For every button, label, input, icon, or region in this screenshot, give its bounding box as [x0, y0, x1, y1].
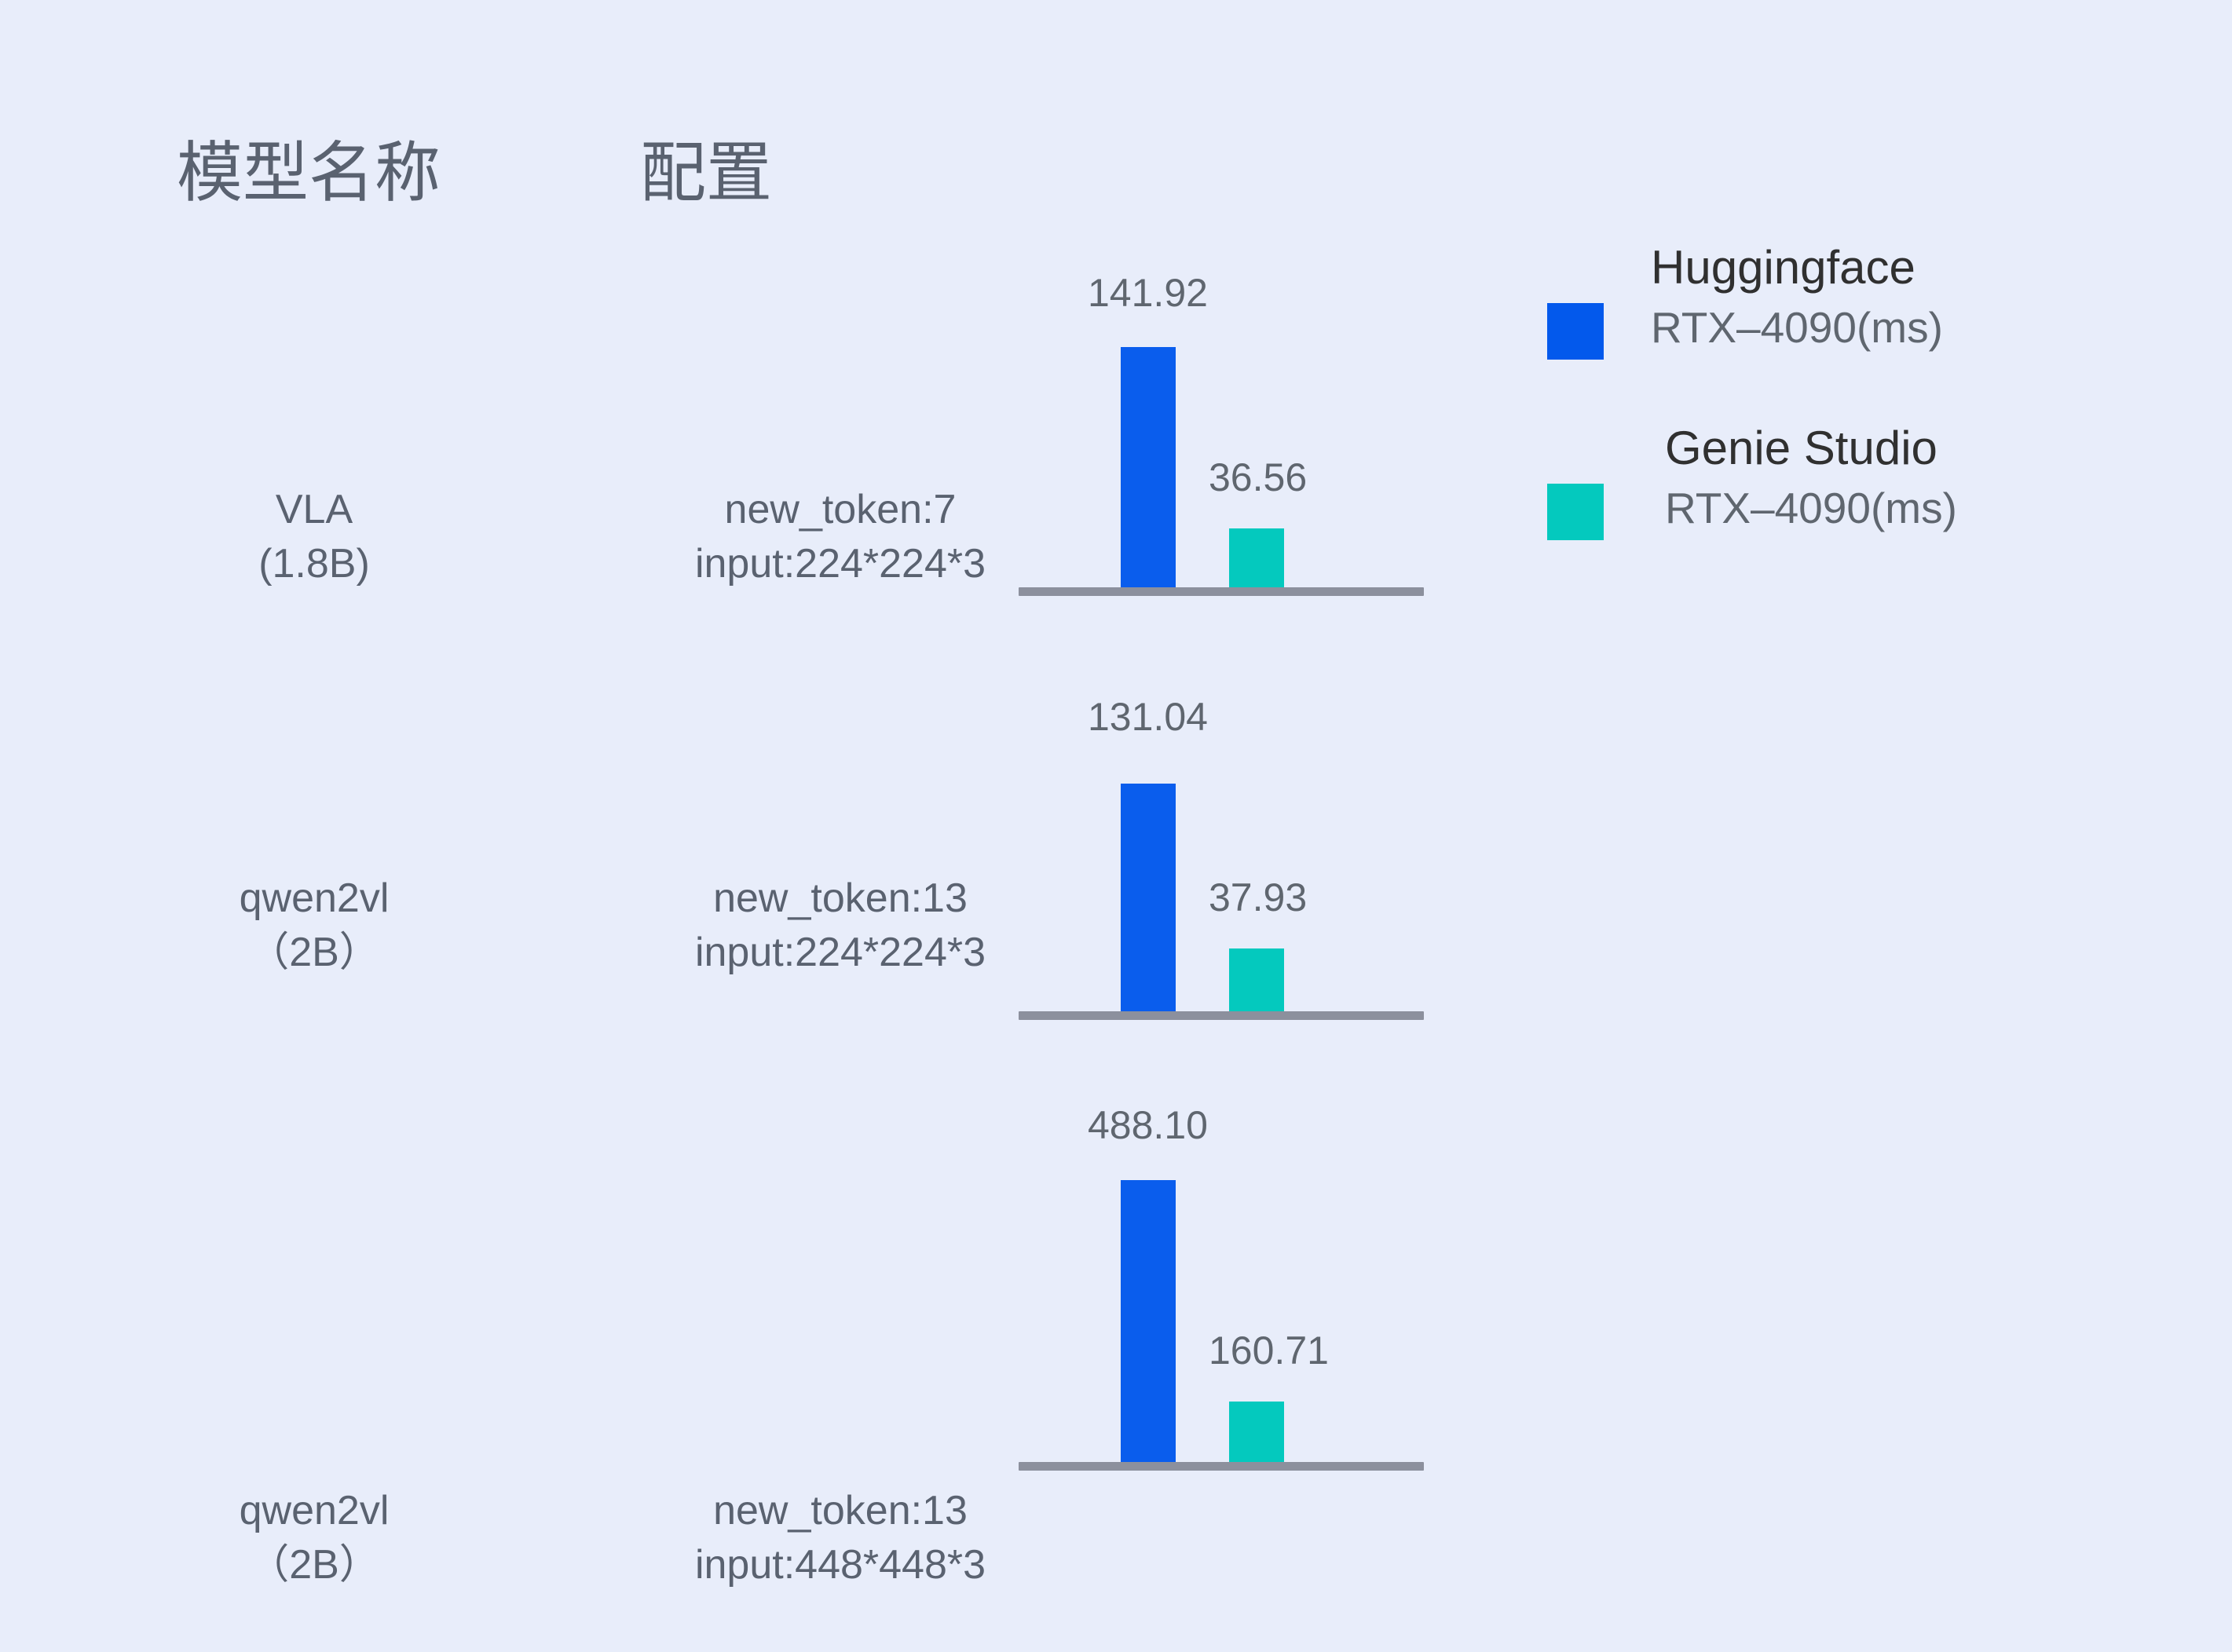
bar-genie-studio	[1229, 948, 1284, 1011]
model-name-line2: (1.8B)	[126, 537, 503, 591]
legend-item-genie-studio: Genie Studio RTX–4090(ms)	[1547, 424, 2097, 605]
infographic-root: 模型名称 配置 VLA (1.8B) new_token:7 input:224…	[0, 0, 2232, 1652]
legend-item-huggingface: Huggingface RTX–4090(ms)	[1547, 243, 2097, 424]
bar-chart-row: 488.10 160.71	[1019, 1091, 1427, 1484]
bar-huggingface	[1121, 784, 1176, 1011]
legend-text-genie-studio: Genie Studio RTX–4090(ms)	[1665, 424, 2105, 532]
legend-swatch-teal-icon	[1547, 484, 1604, 540]
bar-chart-row: 131.04 37.93	[1019, 660, 1427, 1029]
model-name-cell: VLA (1.8B)	[126, 483, 503, 590]
legend-title: Genie Studio	[1665, 424, 2105, 472]
table-row: qwen2vl （2B） new_token:13 input:448*448*…	[0, 1091, 2232, 1500]
model-name-line2: （2B）	[126, 1538, 503, 1592]
config-line2: input:448*448*3	[503, 1538, 1178, 1592]
legend-text-huggingface: Huggingface RTX–4090(ms)	[1651, 243, 2091, 351]
model-name-line2: （2B）	[126, 926, 503, 980]
model-name-line1: VLA	[126, 483, 503, 537]
bar-value-genie-studio: 160.71	[1209, 1331, 1329, 1370]
model-name-cell: qwen2vl （2B）	[126, 1484, 503, 1592]
chart-baseline	[1019, 1011, 1424, 1020]
table-row: qwen2vl （2B） new_token:13 input:224*224*…	[0, 660, 2232, 1044]
legend-swatch-blue-icon	[1547, 303, 1604, 360]
model-name-line1: qwen2vl	[126, 872, 503, 926]
bar-huggingface	[1121, 1180, 1176, 1471]
bar-value-genie-studio: 36.56	[1209, 458, 1307, 497]
bar-genie-studio	[1229, 528, 1284, 587]
chart-baseline	[1019, 1462, 1424, 1471]
model-name-cell: qwen2vl （2B）	[126, 872, 503, 979]
chart-legend: Huggingface RTX–4090(ms) Genie Studio RT…	[1547, 243, 2097, 605]
column-header-model-name: 模型名称	[177, 140, 441, 206]
model-name-line1: qwen2vl	[126, 1484, 503, 1538]
chart-baseline	[1019, 587, 1424, 596]
bar-value-huggingface: 488.10	[1088, 1106, 1208, 1145]
bar-genie-studio	[1229, 1402, 1284, 1462]
bar-value-huggingface: 141.92	[1088, 273, 1208, 312]
bar-value-huggingface: 131.04	[1088, 697, 1208, 736]
legend-subtitle: RTX–4090(ms)	[1665, 486, 2105, 532]
config-cell: new_token:13 input:448*448*3	[503, 1484, 1178, 1592]
column-header-config: 配置	[640, 140, 772, 206]
bar-huggingface	[1121, 347, 1176, 587]
bar-chart-row: 141.92 36.56	[1019, 236, 1427, 605]
bar-value-genie-studio: 37.93	[1209, 878, 1307, 917]
legend-subtitle: RTX–4090(ms)	[1651, 305, 2091, 351]
legend-title: Huggingface	[1651, 243, 2091, 291]
config-line1: new_token:13	[503, 1484, 1178, 1538]
